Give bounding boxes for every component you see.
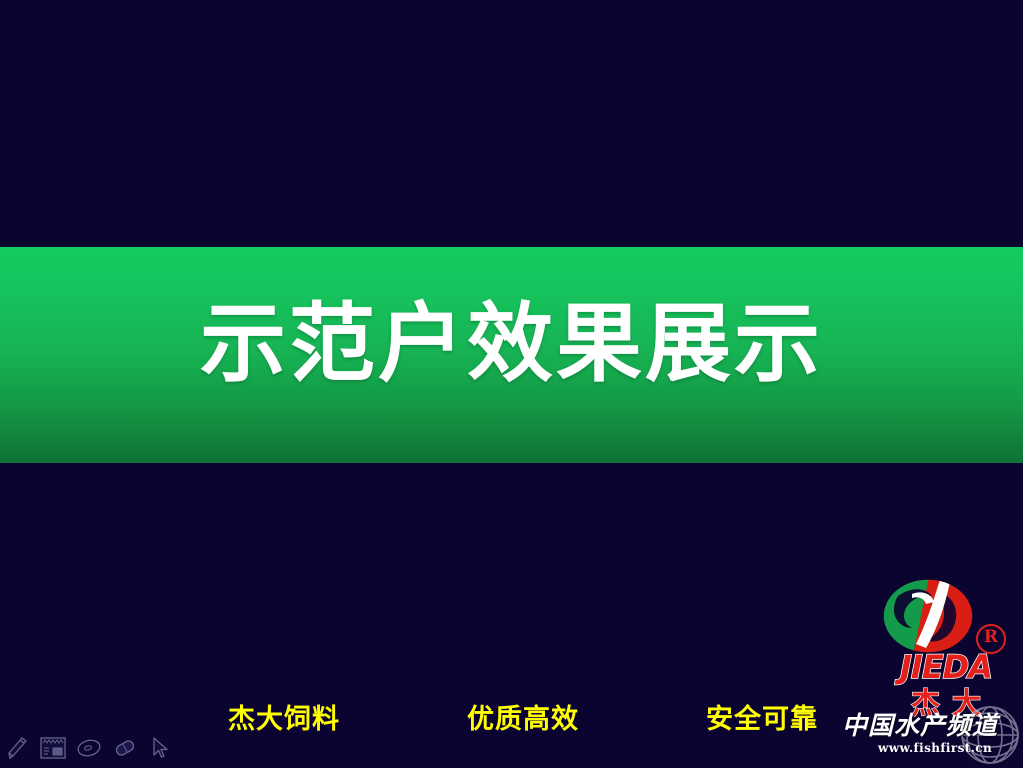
presentation-slide: 示范户效果展示 杰大饲料 优质高效 安全可靠 [0,0,1023,768]
pointer-arrow-icon[interactable] [146,733,174,763]
pen-icon[interactable] [4,733,32,763]
ink-ellipse-icon[interactable] [75,733,103,763]
slogan-item: 安全可靠 [706,704,818,736]
slogan-item: 杰大饲料 [228,704,340,736]
eraser-icon[interactable] [111,733,139,763]
watermark-channel-name: 中国水产频道 [842,712,998,740]
annotation-toolbar[interactable] [4,730,174,766]
jieda-emblem-icon [882,578,974,654]
slogan-item: 优质高效 [467,704,579,736]
slogan-row: 杰大饲料 优质高效 安全可靠 [228,700,818,740]
watermark-url: www.fishfirst.cn [878,741,992,755]
channel-watermark: 中国水产频道 www.fishfirst.cn [818,704,1023,768]
logo-wordmark: JIEDA [876,650,1016,684]
page-title: 示范户效果展示 [0,296,1023,392]
slide-menu-icon[interactable] [40,733,68,763]
